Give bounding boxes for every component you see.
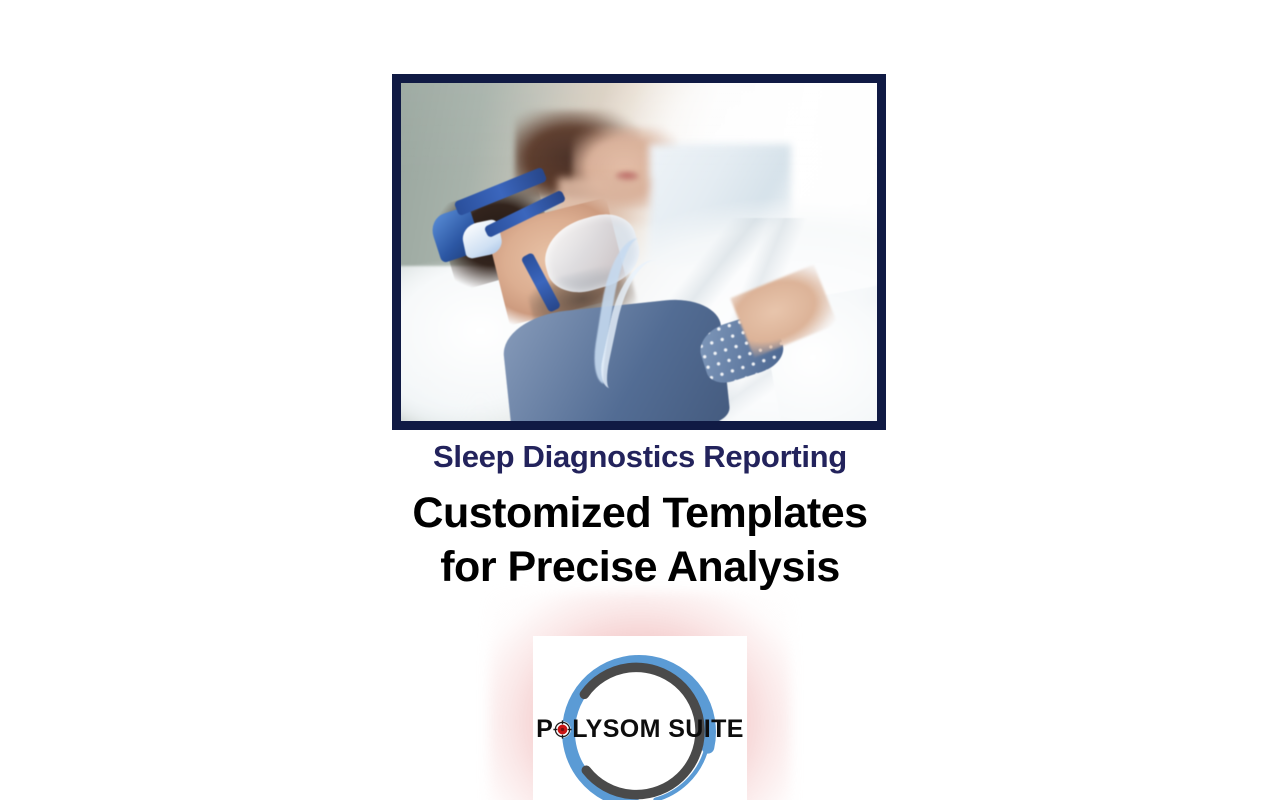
logo-wordmark-before: P [536, 715, 553, 743]
headline-line-1: Customized Templates [0, 486, 1280, 540]
logo-card: P LYSOM SUITE [533, 636, 747, 800]
slide-headline: Customized Templates for Precise Analysi… [0, 486, 1280, 594]
photo-soft-focus-overlay [401, 83, 877, 421]
logo-wordmark: P LYSOM SUITE [533, 715, 747, 744]
slide-eyebrow: Sleep Diagnostics Reporting [0, 437, 1280, 477]
logo-target-icon [553, 717, 572, 736]
hero-image-frame [392, 74, 886, 430]
logo-wordmark-after: LYSOM SUITE [572, 715, 744, 743]
brand-logo: P LYSOM SUITE [533, 636, 747, 800]
headline-line-2: for Precise Analysis [0, 540, 1280, 594]
hero-image [401, 83, 877, 421]
presentation-slide: Sleep Diagnostics Reporting Customized T… [0, 0, 1280, 800]
